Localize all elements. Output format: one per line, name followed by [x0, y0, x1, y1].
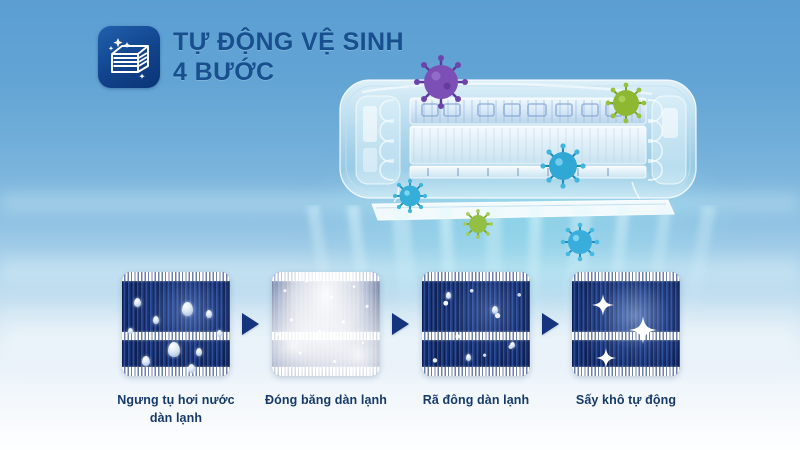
promo-banner: TỰ ĐỘNG VỆ SINH 4 BƯỚC [0, 0, 800, 450]
step-panel-3[interactable] [422, 272, 530, 376]
step-arrow-1 [242, 313, 259, 335]
germ-particle-cyan-left [392, 178, 428, 214]
germ-particle-cyan-center [540, 143, 586, 189]
sparkle-icon-3 [596, 348, 616, 368]
step-panel-4[interactable] [572, 272, 680, 376]
step-panel-1[interactable] [122, 272, 230, 376]
step-panels [0, 266, 800, 386]
self-clean-coil-icon [98, 26, 160, 88]
germ-particle-cyan-lower [560, 222, 600, 262]
step-arrow-2 [392, 313, 409, 335]
coil-clean-sparkle [572, 272, 680, 376]
sparkle-icon-1 [592, 294, 614, 316]
step-caption-1-line2: dàn lạnh [81, 410, 271, 428]
coil-melting-water [422, 272, 530, 376]
germ-particle-green-bottom [462, 208, 494, 240]
step-caption-4-line1: Sấy khô tự động [531, 392, 721, 410]
step-caption-4: Sấy khô tự động [531, 392, 721, 410]
coil-frozen-frost [272, 272, 380, 376]
sparkle-icon-2 [629, 316, 657, 344]
step-panel-2[interactable] [272, 272, 380, 376]
air-conditioner-indoor-unit [332, 62, 704, 247]
germ-particle-green-top [605, 82, 647, 124]
page-title-line1: TỰ ĐỘNG VỆ SINH [173, 29, 404, 55]
germ-particle-purple [414, 55, 468, 109]
step-arrow-3 [542, 313, 559, 335]
coil-with-water-droplets [122, 272, 230, 376]
